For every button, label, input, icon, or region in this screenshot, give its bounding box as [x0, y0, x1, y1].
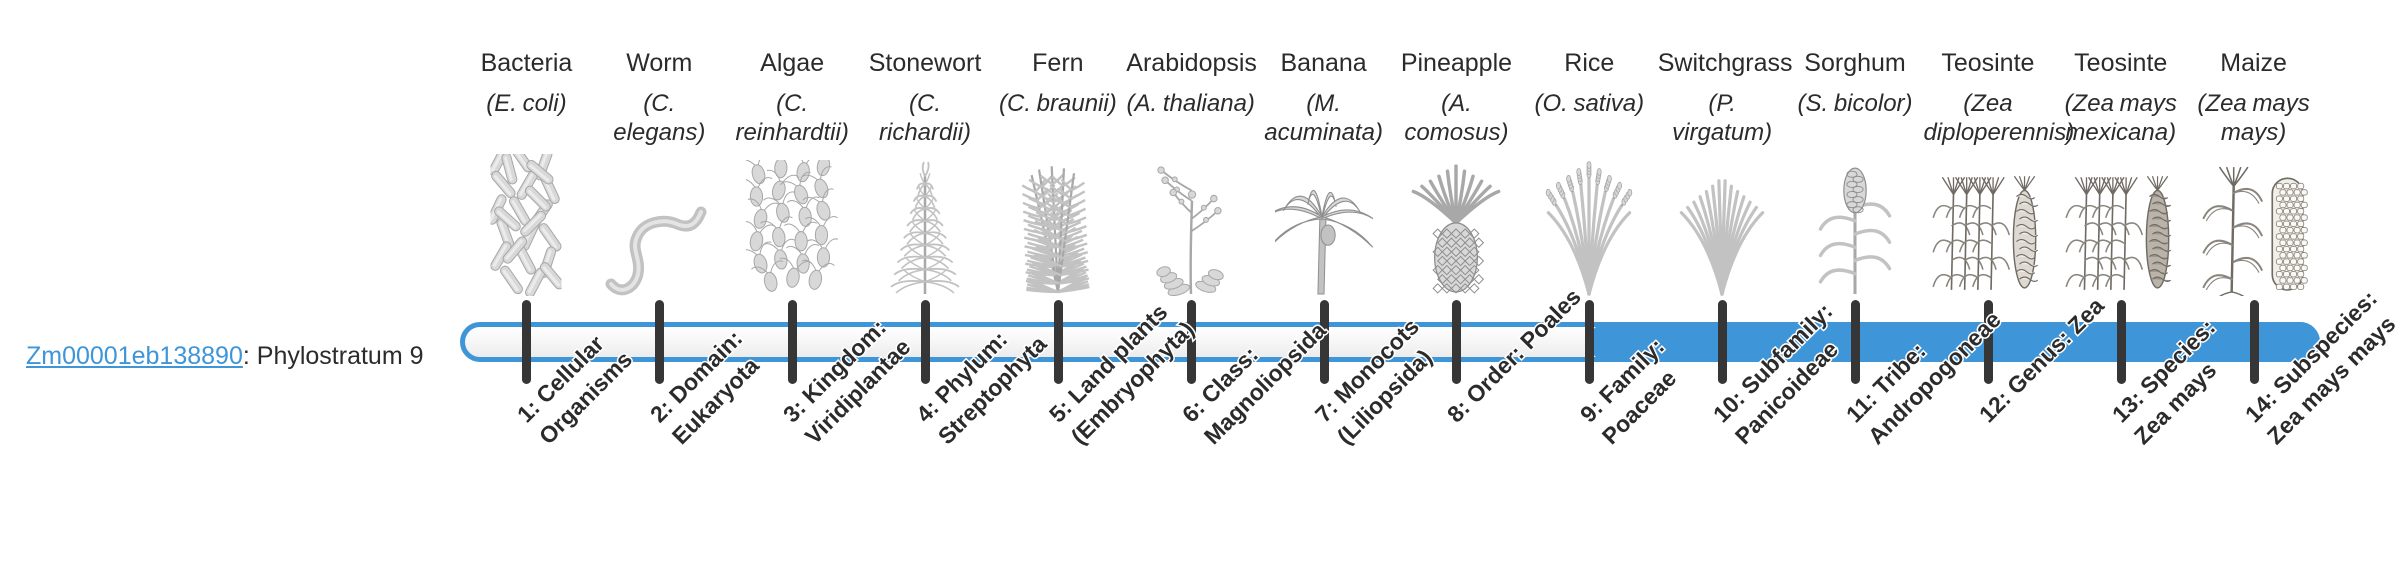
timeline-tick-9[interactable] — [1585, 300, 1594, 384]
species-common-name: Teosinte — [2056, 48, 2185, 78]
species-column-12: Teosinte(Zea mays mexicana) — [2054, 48, 2187, 168]
banana-icon — [1257, 168, 1390, 296]
species-common-name: Sorghum — [1791, 48, 1920, 78]
algae-icon — [726, 168, 859, 296]
species-common-name: Bacteria — [462, 48, 591, 78]
organism-illustration-row — [460, 168, 2320, 296]
species-column-1: Worm(C. elegans) — [593, 48, 726, 168]
rice-icon — [1523, 168, 1656, 296]
species-scientific-name: (O. sativa) — [1525, 89, 1654, 118]
pineapple-icon — [1390, 168, 1523, 296]
species-scientific-name: (Zea mays mays) — [2189, 89, 2318, 147]
species-scientific-name: (Zea diploperennis) — [1923, 89, 2052, 147]
phylostratum-number: 12: — [1974, 385, 2016, 427]
gene-phylostratum-value: Phylostratum 9 — [257, 342, 424, 370]
worm-icon — [593, 168, 726, 296]
species-column-5: Arabidopsis(A. thaliana) — [1124, 48, 1257, 168]
teosinte-mexicana-icon — [2054, 168, 2187, 296]
teosinte-diploperennis-icon — [1921, 168, 2054, 296]
species-scientific-name: (Zea mays mexicana) — [2056, 89, 2185, 147]
species-scientific-name: (A. comosus) — [1392, 89, 1521, 147]
species-column-9: Switchgrass(P. virgatum) — [1656, 48, 1789, 168]
species-common-name: Rice — [1525, 48, 1654, 78]
species-common-name: Switchgrass — [1658, 48, 1787, 78]
bacteria-icon — [460, 168, 593, 296]
species-column-7: Pineapple(A. comosus) — [1390, 48, 1523, 168]
species-scientific-name: (C. braunii) — [993, 89, 1122, 118]
species-common-name: Maize — [2189, 48, 2318, 78]
arabidopsis-icon — [1124, 168, 1257, 296]
species-scientific-name: (C. elegans) — [595, 89, 724, 147]
gene-id-link[interactable]: Zm00001eb138890 — [26, 342, 243, 370]
species-column-3: Stonewort(C. richardii) — [859, 48, 992, 168]
species-common-name: Fern — [993, 48, 1122, 78]
timeline-tick-13[interactable] — [2117, 300, 2126, 384]
species-column-11: Teosinte(Zea diploperennis) — [1921, 48, 2054, 168]
species-scientific-name: (E. coli) — [462, 89, 591, 118]
switchgrass-icon — [1656, 168, 1789, 296]
species-common-name: Worm — [595, 48, 724, 78]
species-common-name: Algae — [728, 48, 857, 78]
phylostratum-label-row: 1: Cellular Organisms2: Domain: Eukaryot… — [460, 392, 2320, 580]
sorghum-icon — [1789, 168, 1922, 296]
species-common-name: Banana — [1259, 48, 1388, 78]
species-column-10: Sorghum(S. bicolor) — [1789, 48, 1922, 168]
species-header-row: Bacteria(E. coli)Worm(C. elegans)Algae(C… — [460, 48, 2320, 168]
species-column-0: Bacteria(E. coli) — [460, 48, 593, 168]
species-scientific-name: (P. virgatum) — [1658, 89, 1787, 147]
species-column-8: Rice(O. sativa) — [1523, 48, 1656, 168]
species-scientific-name: (C. reinhardtii) — [728, 89, 857, 147]
phylostratigraphy-figure: Bacteria(E. coli)Worm(C. elegans)Algae(C… — [0, 0, 2400, 580]
species-common-name: Pineapple — [1392, 48, 1521, 78]
species-common-name: Teosinte — [1923, 48, 2052, 78]
species-column-13: Maize(Zea mays mays) — [2187, 48, 2320, 168]
gene-label-separator: : — [243, 342, 257, 370]
species-column-6: Banana(M. acuminata) — [1257, 48, 1390, 168]
species-scientific-name: (M. acuminata) — [1259, 89, 1388, 147]
maize-icon — [2187, 168, 2320, 296]
species-scientific-name: (S. bicolor) — [1791, 89, 1920, 118]
species-common-name: Arabidopsis — [1126, 48, 1255, 78]
species-common-name: Stonewort — [861, 48, 990, 78]
species-column-4: Fern(C. braunii) — [991, 48, 1124, 168]
fern-icon — [991, 168, 1124, 296]
species-column-2: Algae(C. reinhardtii) — [726, 48, 859, 168]
stonewort-icon — [859, 168, 992, 296]
gene-phylostratum-label: Zm00001eb138890: Phylostratum 9 — [26, 341, 424, 371]
timeline-tick-1[interactable] — [522, 300, 531, 384]
species-scientific-name: (C. richardii) — [861, 89, 990, 147]
species-scientific-name: (A. thaliana) — [1126, 89, 1255, 118]
